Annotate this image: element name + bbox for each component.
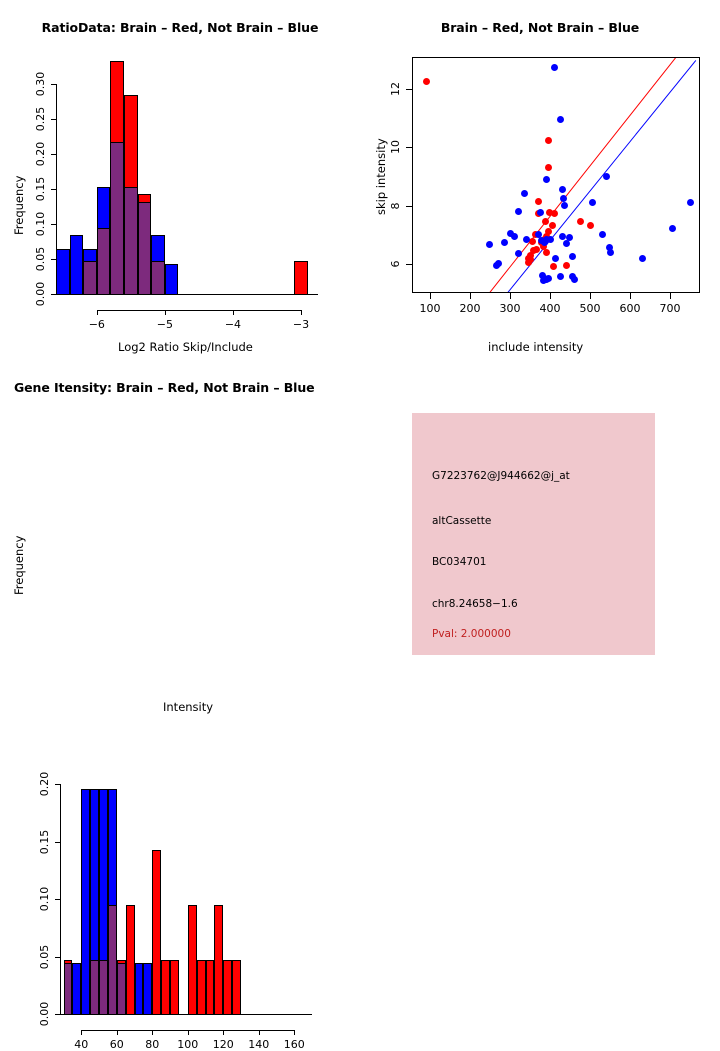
y-tick-label: 8 bbox=[389, 202, 402, 209]
y-tick-label: 0.30 bbox=[34, 72, 47, 97]
scatter-point-notbrain bbox=[515, 250, 522, 257]
y-tick bbox=[55, 842, 60, 843]
x-tick-label: 100 bbox=[420, 302, 441, 315]
scatter-fitline-notbrain-fit bbox=[507, 60, 697, 292]
scatter-point-notbrain bbox=[557, 273, 564, 280]
x-tick bbox=[301, 310, 302, 315]
y-tick bbox=[406, 264, 412, 265]
scatter-point-notbrain bbox=[551, 64, 558, 71]
x-tick-label: 700 bbox=[660, 302, 681, 315]
info-event-type: altCassette bbox=[432, 515, 491, 527]
hist-bar-red bbox=[223, 960, 232, 1015]
scatter-point-notbrain bbox=[495, 260, 502, 267]
panel-scatter: Brain – Red, Not Brain – Blue skip inten… bbox=[360, 0, 720, 360]
hist-bar-top bbox=[138, 194, 152, 203]
x-tick-label: 100 bbox=[177, 1038, 198, 1051]
x-tick bbox=[670, 293, 671, 299]
hist-bar-overlap bbox=[124, 187, 138, 295]
hist-bar-red bbox=[188, 905, 197, 1015]
scatter-point-notbrain bbox=[537, 209, 544, 216]
y-tick-label: 0.05 bbox=[38, 944, 51, 969]
y-tick bbox=[51, 224, 56, 225]
hist-bar-red bbox=[197, 960, 206, 1015]
hist-bar-red bbox=[214, 905, 223, 1015]
x-tick bbox=[630, 293, 631, 299]
scatter-point-notbrain bbox=[607, 249, 614, 256]
scatter-point-notbrain bbox=[569, 253, 576, 260]
scatter-point-notbrain bbox=[599, 231, 606, 238]
scatter-point-brain bbox=[533, 246, 540, 253]
y-tick-label: 12 bbox=[389, 82, 402, 96]
panel-ratio-histogram: RatioData: Brain – Red, Not Brain – Blue… bbox=[0, 0, 360, 360]
x-tick-label: 400 bbox=[540, 302, 561, 315]
x-tick-label: −5 bbox=[157, 318, 173, 331]
hist-bar-blue bbox=[81, 789, 90, 1015]
x-tick bbox=[259, 1030, 260, 1035]
scatter-point-brain bbox=[587, 222, 594, 229]
x-tick bbox=[590, 293, 591, 299]
scatter-point-brain bbox=[550, 263, 557, 270]
info-locus: chr8.24658−1.6 bbox=[432, 598, 518, 610]
scatter-point-notbrain bbox=[560, 195, 567, 202]
hist-bar-overlap bbox=[97, 228, 111, 295]
y-tick bbox=[55, 784, 60, 785]
hist-bar-overlap bbox=[83, 261, 97, 295]
hist-bar-blue bbox=[143, 963, 152, 1015]
x-tick bbox=[188, 1030, 189, 1035]
y-tick bbox=[51, 84, 56, 85]
y-tick-label: 0.25 bbox=[34, 107, 47, 132]
x-tick bbox=[510, 293, 511, 299]
scatter-point-brain bbox=[543, 249, 550, 256]
y-tick bbox=[55, 957, 60, 958]
x-tick-label: 300 bbox=[500, 302, 521, 315]
scatter-point-notbrain bbox=[543, 176, 550, 183]
x-tick bbox=[117, 1030, 118, 1035]
y-tick-label: 0.00 bbox=[38, 1002, 51, 1027]
hist-bar-top bbox=[90, 789, 99, 961]
hist-bar-overlap bbox=[90, 960, 99, 1015]
scatter-point-notbrain bbox=[523, 236, 530, 243]
y-axis-line bbox=[60, 784, 61, 1015]
hist-bar-top bbox=[99, 789, 108, 961]
y-tick bbox=[55, 1014, 60, 1015]
x-tick-label: −3 bbox=[293, 318, 309, 331]
x-tick-label: 200 bbox=[460, 302, 481, 315]
y-tick bbox=[406, 147, 412, 148]
hist-bar-overlap bbox=[108, 905, 117, 1015]
hist-bar-blue bbox=[165, 264, 179, 295]
scatter-point-notbrain bbox=[639, 255, 646, 262]
x-tick bbox=[294, 1030, 295, 1035]
y-tick bbox=[406, 89, 412, 90]
scatter-point-brain bbox=[525, 259, 532, 266]
y-tick-label: 0.20 bbox=[38, 772, 51, 797]
x-tick bbox=[97, 310, 98, 315]
y-tick-label: 0.00 bbox=[34, 282, 47, 307]
x-tick-label: 120 bbox=[213, 1038, 234, 1051]
y-tick-label: 0.15 bbox=[34, 177, 47, 202]
hist-bar-red bbox=[206, 960, 215, 1015]
y-tick-label: 0.10 bbox=[34, 212, 47, 237]
hist-bar-top bbox=[110, 61, 124, 143]
scatter-point-notbrain bbox=[521, 190, 528, 197]
hist-bar-top bbox=[151, 235, 165, 263]
hist-bar-top bbox=[117, 960, 126, 964]
x-tick bbox=[430, 293, 431, 299]
hist-bar-blue bbox=[72, 963, 81, 1015]
x-tick bbox=[81, 1030, 82, 1035]
y-tick bbox=[406, 206, 412, 207]
y-tick-label: 0.10 bbox=[38, 887, 51, 912]
scatter-point-notbrain bbox=[589, 199, 596, 206]
hist-bar-overlap bbox=[110, 142, 124, 295]
scatter-plot: 681012100200300400500600700 bbox=[360, 0, 720, 360]
hist-bar-overlap bbox=[99, 960, 108, 1015]
scatter-point-notbrain bbox=[571, 276, 578, 283]
scatter-point-brain bbox=[563, 262, 570, 269]
y-tick bbox=[55, 899, 60, 900]
hist-bar-overlap bbox=[138, 202, 152, 295]
scatter-point-notbrain bbox=[563, 240, 570, 247]
y-tick bbox=[51, 119, 56, 120]
scatter-data-area bbox=[413, 58, 699, 292]
x-tick-label: 160 bbox=[284, 1038, 305, 1051]
hist-bar-top bbox=[83, 249, 97, 262]
scatter-point-notbrain bbox=[547, 236, 554, 243]
scatter-point-notbrain bbox=[687, 199, 694, 206]
x-tick bbox=[233, 310, 234, 315]
x-tick bbox=[152, 1030, 153, 1035]
scatter-point-brain bbox=[542, 218, 549, 225]
x-tick bbox=[223, 1030, 224, 1035]
scatter-point-notbrain bbox=[557, 116, 564, 123]
scatter-point-notbrain bbox=[559, 233, 566, 240]
scatter-point-brain bbox=[551, 210, 558, 217]
scatter-point-notbrain bbox=[540, 277, 547, 284]
scatter-point-notbrain bbox=[511, 233, 518, 240]
y-tick-label: 0.05 bbox=[34, 247, 47, 272]
ratio-histogram-plot: 0.000.050.100.150.200.250.30−6−5−4−3 bbox=[0, 0, 360, 360]
panel-info: G7223762@J944662@j_at altCassette BC0347… bbox=[360, 360, 720, 720]
gene-histogram-plot: 0.000.050.100.150.20406080100120140160 bbox=[0, 360, 360, 720]
hist-bar-red bbox=[170, 960, 179, 1015]
hist-bar-top bbox=[124, 95, 138, 188]
hist-bar-overlap bbox=[151, 261, 165, 295]
panel-gene-histogram: Gene Itensity: Brain – Red, Not Brain – … bbox=[0, 360, 360, 720]
scatter-point-notbrain bbox=[501, 239, 508, 246]
hist-bar-overlap bbox=[117, 963, 126, 1015]
x-tick-label: 600 bbox=[620, 302, 641, 315]
info-accession: BC034701 bbox=[432, 556, 486, 568]
x-tick-label: 80 bbox=[145, 1038, 159, 1051]
scatter-point-notbrain bbox=[515, 208, 522, 215]
x-tick-label: 500 bbox=[580, 302, 601, 315]
scatter-point-brain bbox=[529, 238, 536, 245]
x-tick-axis bbox=[97, 310, 301, 311]
hist-bar-blue bbox=[70, 235, 84, 295]
x-tick-label: 60 bbox=[110, 1038, 124, 1051]
hist-bar-top bbox=[64, 960, 73, 964]
y-tick bbox=[51, 154, 56, 155]
info-probe-id: G7223762@J944662@j_at bbox=[432, 470, 570, 482]
hist-bar-red bbox=[294, 261, 308, 295]
info-background bbox=[412, 413, 655, 655]
x-tick-label: −4 bbox=[225, 318, 241, 331]
scatter-point-notbrain bbox=[552, 255, 559, 262]
hist-bar-blue bbox=[56, 249, 70, 295]
hist-bar-blue bbox=[135, 963, 144, 1015]
scatter-point-brain bbox=[423, 78, 430, 85]
scatter-point-brain bbox=[545, 164, 552, 171]
hist-bar-red bbox=[126, 905, 135, 1015]
x-tick bbox=[165, 310, 166, 315]
hist-bar-overlap bbox=[64, 963, 73, 1015]
hist-bar-red bbox=[232, 960, 241, 1015]
y-tick bbox=[51, 189, 56, 190]
scatter-point-notbrain bbox=[603, 173, 610, 180]
scatter-point-notbrain bbox=[559, 186, 566, 193]
y-tick-label: 6 bbox=[389, 260, 402, 267]
x-tick bbox=[470, 293, 471, 299]
scatter-point-brain bbox=[535, 198, 542, 205]
x-tick-label: 40 bbox=[74, 1038, 88, 1051]
x-tick-label: −6 bbox=[89, 318, 105, 331]
info-pval: Pval: 2.000000 bbox=[432, 628, 511, 640]
hist-bar-red bbox=[161, 960, 170, 1015]
hist-bar-top bbox=[108, 789, 117, 906]
scatter-point-brain bbox=[545, 137, 552, 144]
scatter-point-notbrain bbox=[669, 225, 676, 232]
scatter-point-notbrain bbox=[561, 202, 568, 209]
y-tick-label: 10 bbox=[389, 140, 402, 154]
y-tick-label: 0.15 bbox=[38, 829, 51, 854]
scatter-point-notbrain bbox=[486, 241, 493, 248]
plot-page: RatioData: Brain – Red, Not Brain – Blue… bbox=[0, 0, 720, 720]
x-tick bbox=[550, 293, 551, 299]
hist-bar-top bbox=[97, 187, 111, 229]
scatter-point-brain bbox=[577, 218, 584, 225]
hist-bar-red bbox=[152, 850, 161, 1015]
x-tick-label: 140 bbox=[248, 1038, 269, 1051]
y-tick-label: 0.20 bbox=[34, 142, 47, 167]
